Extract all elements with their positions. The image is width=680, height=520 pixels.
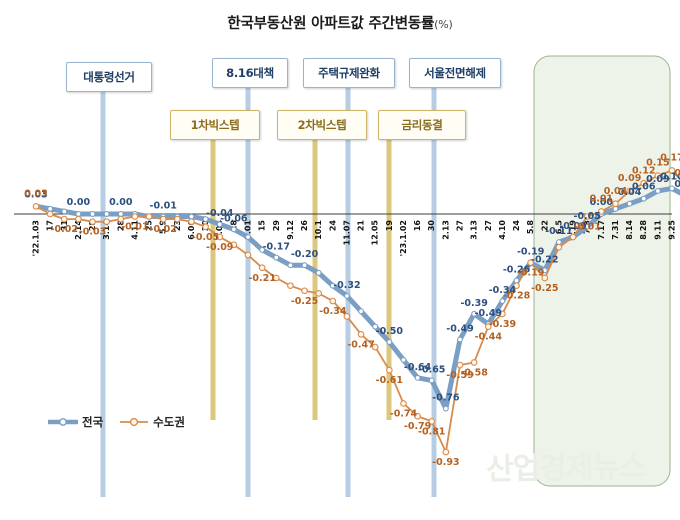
data-label-nationwide: -0.22 — [531, 254, 558, 265]
data-point-capital-area[interactable] — [443, 449, 449, 455]
data-label-capital-area: -0.39 — [489, 319, 516, 330]
data-label-capital-area: -0.02 — [51, 224, 78, 235]
data-point-nationwide[interactable] — [443, 406, 448, 411]
x-axis-label: 24 — [512, 220, 521, 232]
data-label-nationwide: -0.50 — [376, 326, 404, 337]
data-label-nationwide: -0.05 — [574, 211, 601, 222]
event-callout-rate-1[interactable]: 2차빅스텝 — [277, 110, 367, 140]
data-label-nationwide: 0.00 — [67, 197, 91, 208]
data-label-nationwide: -0.32 — [333, 280, 360, 291]
data-point-nationwide[interactable] — [246, 235, 251, 240]
data-label-capital-area: -0.03 — [79, 227, 106, 238]
data-label-capital-area: -0.25 — [291, 296, 318, 307]
data-label-capital-area: -0.01 — [121, 222, 148, 233]
data-point-capital-area[interactable] — [47, 211, 53, 217]
data-point-capital-area[interactable] — [556, 244, 562, 250]
data-label-capital-area: -0.93 — [432, 457, 459, 468]
chart-legend: 전국 수도권 — [48, 414, 185, 430]
data-label-nationwide: -0.06 — [220, 213, 248, 224]
legend-label-nationwide: 전국 — [82, 414, 103, 430]
x-axis-label: 11.07 — [342, 220, 351, 245]
x-axis-label: 9.12 — [286, 220, 295, 240]
data-point-nationwide[interactable] — [62, 209, 67, 214]
x-axis-label: 2.13 — [441, 220, 450, 240]
data-point-capital-area[interactable] — [259, 265, 265, 271]
data-point-nationwide[interactable] — [104, 212, 109, 217]
x-axis-label: 16 — [413, 220, 422, 232]
data-label-nationwide: -0.76 — [432, 393, 460, 404]
data-point-nationwide[interactable] — [641, 196, 646, 201]
event-callout-policy-2-label: 주택규제완화 — [318, 65, 380, 81]
highlight-region-group — [534, 56, 670, 486]
data-label-capital-area: -0.25 — [531, 283, 558, 294]
data-label-capital-area: 0.03 — [24, 188, 47, 199]
event-callout-rate-2-label: 금리동결 — [401, 117, 442, 133]
x-axis-label: 30 — [427, 220, 436, 232]
data-label-nationwide: -0.01 — [150, 201, 177, 212]
data-point-capital-area[interactable] — [33, 204, 39, 210]
data-label-capital-area: -0.21 — [248, 273, 275, 284]
data-label-nationwide: 0.00 — [109, 197, 133, 208]
data-point-nationwide[interactable] — [274, 255, 279, 260]
data-point-nationwide[interactable] — [458, 337, 463, 342]
data-label-capital-area: -0.61 — [376, 375, 403, 386]
data-point-capital-area[interactable] — [160, 216, 166, 222]
data-label-capital-area: -0.28 — [503, 291, 531, 302]
data-label-capital-area: -0.34 — [319, 306, 347, 317]
data-label-capital-area: -0.19 — [517, 268, 544, 279]
data-label-capital-area: -0.74 — [390, 408, 418, 419]
data-point-capital-area[interactable] — [175, 216, 181, 222]
x-axis-label: 27 — [456, 220, 465, 231]
highlight-region — [534, 56, 670, 486]
x-axis-label: 9.11 — [653, 220, 662, 240]
data-point-capital-area[interactable] — [203, 224, 209, 230]
x-axis-label: 27 — [484, 220, 493, 231]
event-callout-policy-1[interactable]: 8.16대책 — [212, 58, 288, 88]
watermark: 산업경제뉴스 — [486, 442, 646, 489]
event-callout-policy-0-label: 대통령선거 — [83, 69, 134, 85]
data-point-nationwide[interactable] — [76, 212, 81, 217]
x-axis-label: 12.05 — [371, 220, 380, 246]
data-point-nationwide[interactable] — [514, 278, 519, 283]
data-point-capital-area[interactable] — [471, 360, 477, 366]
data-point-nationwide[interactable] — [90, 212, 95, 217]
data-point-capital-area[interactable] — [288, 283, 294, 289]
event-callout-policy-2[interactable]: 주택규제완화 — [303, 58, 395, 88]
data-point-capital-area[interactable] — [90, 219, 96, 225]
legend-item-capital-area[interactable]: 수도권 — [119, 414, 185, 430]
data-point-nationwide[interactable] — [557, 240, 562, 245]
legend-item-nationwide[interactable]: 전국 — [48, 414, 103, 430]
data-point-nationwide[interactable] — [387, 340, 392, 345]
x-axis-label: 8.28 — [639, 220, 648, 240]
event-vertical-lines-group — [103, 88, 434, 497]
data-point-capital-area[interactable] — [146, 214, 152, 220]
data-point-nationwide[interactable] — [316, 270, 321, 275]
data-label-capital-area: -0.47 — [347, 339, 374, 350]
data-label-capital-area: 0.04 — [604, 186, 628, 197]
data-point-capital-area[interactable] — [401, 401, 407, 407]
data-label-nationwide: -0.65 — [418, 364, 445, 375]
data-label-capital-area: -0.01 — [574, 222, 601, 233]
data-point-nationwide[interactable] — [345, 294, 350, 299]
data-label-capital-area: -0.44 — [475, 332, 503, 343]
data-point-capital-area[interactable] — [358, 332, 364, 338]
data-point-nationwide[interactable] — [48, 206, 53, 211]
legend-swatch-blue — [48, 416, 78, 428]
data-label-capital-area: 0.17 — [660, 152, 680, 163]
data-point-capital-area[interactable] — [61, 216, 67, 222]
event-callout-rate-0-label: 1차빅스텝 — [191, 117, 240, 133]
data-point-nationwide[interactable] — [613, 206, 618, 211]
data-point-capital-area[interactable] — [613, 201, 619, 207]
data-point-capital-area[interactable] — [189, 219, 195, 225]
data-point-nationwide[interactable] — [231, 227, 236, 232]
event-callout-rate-1-label: 2차빅스텝 — [298, 117, 347, 133]
data-point-capital-area[interactable] — [245, 252, 251, 258]
x-axis-label: 26 — [300, 220, 309, 232]
data-point-nationwide[interactable] — [118, 212, 123, 217]
data-point-capital-area[interactable] — [302, 288, 308, 294]
x-axis-label: '22.1.03 — [32, 220, 41, 256]
data-point-nationwide[interactable] — [189, 214, 194, 219]
x-axis-label: 10.1 — [314, 220, 323, 240]
legend-swatch-orange — [119, 416, 149, 428]
data-label-nationwide: -0.49 — [475, 308, 502, 319]
data-point-nationwide[interactable] — [655, 189, 660, 194]
data-label-nationwide: -0.17 — [263, 242, 290, 253]
x-axis-label: 9.25 — [668, 220, 677, 240]
event-callout-rate-2[interactable]: 금리동결 — [378, 110, 466, 140]
data-point-capital-area[interactable] — [387, 367, 393, 373]
data-label-capital-area: -0.58 — [460, 367, 488, 378]
x-axis-label: '23.1.02 — [399, 220, 408, 256]
x-axis-label: 19 — [385, 220, 394, 232]
event-callout-policy-0[interactable]: 대통령선거 — [66, 62, 152, 92]
legend-label-capital-area: 수도권 — [153, 414, 185, 430]
x-axis-label: 8.14 — [625, 220, 634, 240]
data-point-capital-area[interactable] — [104, 219, 110, 225]
data-point-nationwide[interactable] — [359, 309, 364, 314]
data-point-capital-area[interactable] — [132, 214, 138, 220]
data-label-capital-area: -0.81 — [418, 426, 445, 437]
data-point-capital-area[interactable] — [76, 216, 82, 222]
data-point-nationwide[interactable] — [288, 263, 293, 268]
x-axis-label: 7.31 — [611, 220, 620, 240]
data-label-capital-area: -0.02 — [150, 224, 177, 235]
data-point-nationwide[interactable] — [415, 375, 420, 380]
data-point-nationwide[interactable] — [429, 378, 434, 383]
event-callout-policy-1-label: 8.16대책 — [226, 65, 274, 81]
event-callout-policy-3[interactable]: 서울전면해제 — [409, 58, 501, 88]
chart-page: 한국부동산원 아파트값 주간변동률(%) '22.1.0317312.14283… — [0, 0, 680, 520]
event-callout-policy-3-label: 서울전면해제 — [424, 65, 486, 81]
data-point-nationwide[interactable] — [627, 201, 632, 206]
x-axis-label: 24 — [328, 220, 337, 232]
x-axis-label: 29 — [272, 220, 281, 232]
data-label-nationwide: -0.20 — [291, 249, 319, 260]
data-point-nationwide[interactable] — [302, 263, 307, 268]
data-label-capital-area: -0.09 — [206, 242, 233, 253]
x-axis-label: 15 — [258, 220, 267, 232]
data-label-nationwide: 0.07 — [674, 179, 680, 190]
x-axis-label: 21 — [357, 220, 366, 232]
x-axis-label: 4.10 — [498, 220, 507, 240]
data-label-nationwide: -0.49 — [446, 323, 473, 334]
data-label-capital-area: 0.11 — [674, 168, 680, 179]
event-callout-rate-0[interactable]: 1차빅스텝 — [170, 110, 260, 140]
x-axis-label: 5.8 — [526, 220, 535, 235]
x-axis-label: 3.13 — [470, 220, 479, 240]
data-point-capital-area[interactable] — [330, 298, 336, 304]
